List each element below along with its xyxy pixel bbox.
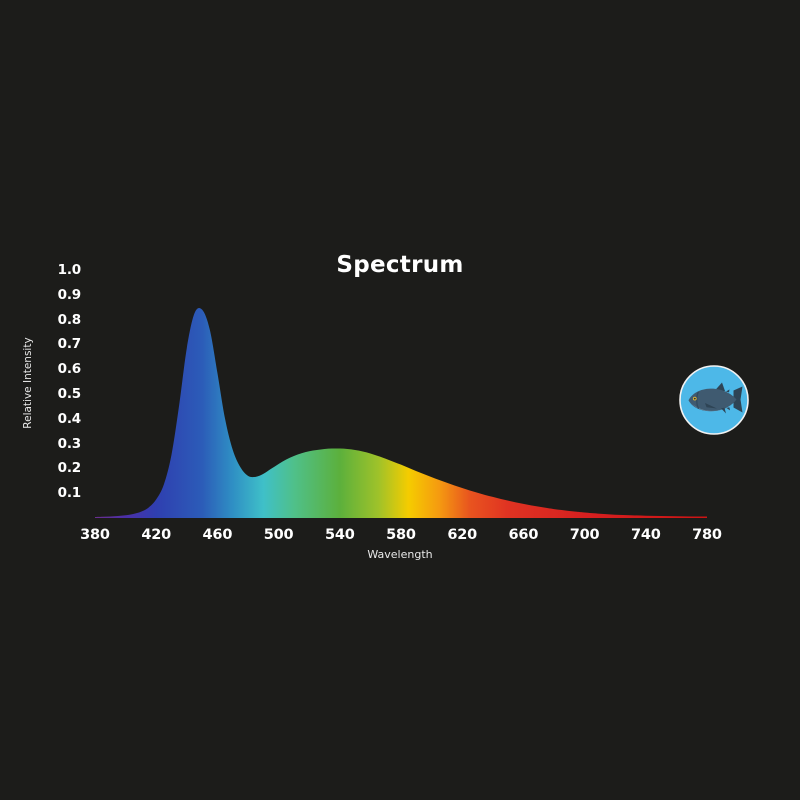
y-axis-label: Relative Intensity [22,318,34,448]
x-tick-label: 460 [187,527,247,543]
x-tick-label: 700 [555,527,615,543]
y-tick-label: 0.9 [39,287,81,303]
x-tick-label: 740 [616,527,676,543]
y-tick-label: 0.5 [39,386,81,402]
spectrum-chart-page: Spectrum 0.10.20.30.40.50.60.70.80.91.0 … [0,0,800,800]
y-tick-label: 0.1 [39,485,81,501]
x-tick-label: 540 [310,527,370,543]
x-tick-label: 580 [371,527,431,543]
x-tick-label: 420 [126,527,186,543]
x-tick-label: 380 [65,527,125,543]
y-tick-label: 0.6 [39,361,81,377]
x-axis-label: Wavelength [300,548,500,561]
y-tick-label: 0.2 [39,460,81,476]
x-tick-label: 780 [677,527,737,543]
y-tick-label: 0.7 [39,336,81,352]
tuna-fish-icon[interactable] [678,364,750,436]
y-tick-label: 0.4 [39,411,81,427]
y-tick-label: 0.8 [39,312,81,328]
x-tick-label: 660 [493,527,553,543]
spectrum-area-fill [95,308,707,518]
y-tick-label: 1.0 [39,262,81,278]
x-tick-label: 500 [249,527,309,543]
x-tick-label: 620 [432,527,492,543]
page-title: Spectrum [0,252,800,278]
y-tick-label: 0.3 [39,436,81,452]
